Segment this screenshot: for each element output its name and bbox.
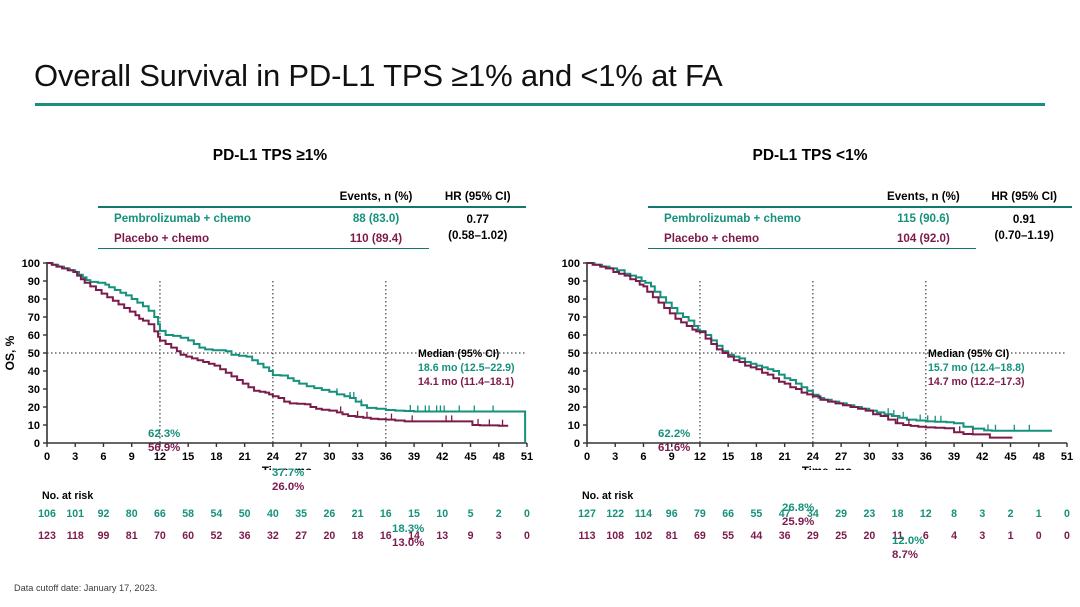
svg-text:10: 10 [568, 420, 580, 432]
svg-text:6: 6 [100, 451, 106, 463]
svg-text:0: 0 [584, 451, 590, 463]
summary-table: Events, n (%) HR (95% CI) Pembrolizumab … [648, 190, 1072, 249]
table-row: Pembrolizumab + chemo 88 (83.0) 0.77 (0.… [98, 207, 526, 228]
risk-value: 18 [352, 530, 364, 542]
panel-tps-ge-1: PD-L1 TPS ≥1% Events, n (%) HR (95% CI) … [0, 130, 540, 570]
svg-text:3: 3 [72, 451, 78, 463]
svg-text:45: 45 [464, 451, 476, 463]
risk-row-placebo: 12311899817060523632272018161413930 [0, 530, 540, 547]
median-header: Median (95% CI) [418, 348, 515, 362]
svg-text:10: 10 [28, 420, 40, 432]
risk-value: 54 [211, 508, 223, 520]
annotation-placebo: 13.0% [392, 537, 424, 551]
risk-value: 32 [267, 530, 279, 542]
risk-value: 1 [1036, 508, 1042, 520]
risk-value: 113 [578, 530, 595, 542]
risk-value: 12 [920, 508, 932, 520]
annotation-pembro: 18.3% [392, 523, 424, 537]
svg-text:90: 90 [568, 276, 580, 288]
panel-heading: PD-L1 TPS <1% [540, 147, 1080, 165]
risk-value: 52 [211, 530, 223, 542]
risk-row-pembro: 10610192806658545040352621161510520 [0, 508, 540, 525]
hr-value: 0.77 [429, 212, 526, 229]
risk-value: 4 [951, 530, 957, 542]
arm-name: Pembrolizumab + chemo [648, 207, 870, 228]
annotation-month-36: 12.0%8.7% [892, 535, 924, 562]
svg-text:100: 100 [562, 258, 580, 270]
risk-value: 15 [408, 508, 420, 520]
svg-text:60: 60 [568, 330, 580, 342]
svg-text:51: 51 [1061, 451, 1073, 463]
svg-text:21: 21 [779, 451, 791, 463]
annotation-month-24: 26.8%25.9% [782, 502, 814, 529]
risk-value: 127 [578, 508, 596, 520]
risk-value: 106 [38, 508, 56, 520]
svg-text:15: 15 [722, 451, 734, 463]
risk-value: 36 [239, 530, 251, 542]
risk-value: 9 [468, 530, 474, 542]
svg-text:80: 80 [568, 294, 580, 306]
risk-value: 2 [1008, 508, 1014, 520]
slide-root: Overall Survival in PD-L1 TPS ≥1% and <1… [0, 0, 1080, 607]
col-hr: HR (95% CI) [429, 190, 526, 207]
events-value: 104 (92.0) [870, 228, 976, 249]
page-title: Overall Survival in PD-L1 TPS ≥1% and <1… [34, 58, 1046, 94]
svg-text:36: 36 [920, 451, 932, 463]
svg-text:33: 33 [891, 451, 903, 463]
svg-text:100: 100 [22, 258, 40, 270]
events-value: 110 (89.4) [323, 228, 430, 249]
svg-text:30: 30 [863, 451, 875, 463]
svg-text:60: 60 [28, 330, 40, 342]
median-placebo: 14.7 mo (12.2–17.3) [928, 376, 1025, 390]
risk-value: 55 [722, 530, 734, 542]
events-value: 115 (90.6) [870, 207, 976, 228]
annotation-placebo: 8.7% [892, 549, 924, 563]
hr-value: 0.91 [976, 212, 1072, 229]
svg-text:OS, %: OS, % [3, 335, 17, 370]
risk-value: 96 [666, 508, 678, 520]
svg-text:6: 6 [640, 451, 646, 463]
svg-text:18: 18 [210, 451, 222, 463]
median-pembro: 15.7 mo (12.4–18.8) [928, 362, 1025, 376]
risk-row-placebo: 113108102816955443629252011643100 [540, 530, 1080, 547]
col-hr: HR (95% CI) [976, 190, 1072, 207]
svg-text:80: 80 [28, 294, 40, 306]
risk-value: 122 [606, 508, 624, 520]
risk-value: 23 [863, 508, 875, 520]
risk-value: 16 [380, 508, 392, 520]
hr-ci: (0.70–1.19) [976, 228, 1072, 245]
annotation-placebo: 61.6% [658, 442, 690, 456]
svg-text:21: 21 [239, 451, 251, 463]
risk-value: 123 [38, 530, 56, 542]
risk-value: 5 [468, 508, 474, 520]
svg-text:18: 18 [750, 451, 762, 463]
footnote: Data cutoff date: January 17, 2023. [14, 583, 157, 593]
risk-value: 13 [436, 530, 448, 542]
annotation-month-36: 18.3%13.0% [392, 523, 424, 550]
table-row: Pembrolizumab + chemo 115 (90.6) 0.91 (0… [648, 207, 1072, 228]
risk-value: 3 [979, 530, 985, 542]
svg-text:40: 40 [568, 366, 580, 378]
svg-text:42: 42 [436, 451, 448, 463]
risk-value: 27 [295, 530, 307, 542]
svg-text:42: 42 [976, 451, 988, 463]
risk-value: 35 [295, 508, 307, 520]
risk-value: 40 [267, 508, 279, 520]
risk-value: 101 [66, 508, 84, 520]
risk-table-label: No. at risk [42, 490, 93, 502]
arm-name: Placebo + chemo [648, 228, 870, 249]
risk-value: 58 [182, 508, 194, 520]
svg-text:20: 20 [568, 402, 580, 414]
hr-cell: 0.91 (0.70–1.19) [976, 207, 1072, 249]
col-events: Events, n (%) [323, 190, 430, 207]
risk-value: 60 [182, 530, 194, 542]
risk-value: 25 [835, 530, 847, 542]
risk-value: 36 [779, 530, 791, 542]
summary-table: Events, n (%) HR (95% CI) Pembrolizumab … [98, 190, 526, 249]
col-arm [98, 190, 323, 207]
panel-heading: PD-L1 TPS ≥1% [0, 147, 540, 165]
hr-ci: (0.58–1.02) [429, 228, 526, 245]
svg-text:50: 50 [568, 348, 580, 360]
svg-text:39: 39 [408, 451, 420, 463]
svg-text:24: 24 [267, 451, 280, 463]
svg-text:48: 48 [493, 451, 505, 463]
risk-value: 21 [352, 508, 364, 520]
annotation-pembro: 12.0% [892, 535, 924, 549]
arm-name: Placebo + chemo [98, 228, 323, 249]
svg-text:24: 24 [807, 451, 820, 463]
risk-table-label: No. at risk [582, 490, 633, 502]
risk-value: 81 [126, 530, 138, 542]
svg-text:36: 36 [380, 451, 392, 463]
hr-cell: 0.77 (0.58–1.02) [429, 207, 526, 249]
risk-value: 0 [524, 530, 530, 542]
risk-value: 2 [496, 508, 502, 520]
risk-value: 3 [979, 508, 985, 520]
annotation-month-12: 62.3%56.9% [148, 428, 180, 455]
arm-name: Pembrolizumab + chemo [98, 207, 323, 228]
title-underline [35, 103, 1045, 106]
risk-value: 20 [323, 530, 335, 542]
risk-value: 8 [951, 508, 957, 520]
risk-value: 16 [380, 530, 392, 542]
annotation-month-12: 62.2%61.6% [658, 428, 690, 455]
risk-value: 69 [694, 530, 706, 542]
annotation-placebo: 56.9% [148, 442, 180, 456]
svg-text:33: 33 [351, 451, 363, 463]
median-pembro: 18.6 mo (12.5–22.9) [418, 362, 515, 376]
annotation-pembro: 37.7% [272, 467, 304, 481]
risk-value: 118 [67, 530, 84, 542]
median-placebo: 14.1 mo (11.4–18.1) [418, 376, 515, 390]
svg-text:70: 70 [568, 312, 580, 324]
panel-tps-lt-1: PD-L1 TPS <1% Events, n (%) HR (95% CI) … [540, 130, 1080, 570]
risk-value: 3 [496, 530, 502, 542]
svg-text:27: 27 [835, 451, 847, 463]
risk-value: 20 [863, 530, 875, 542]
risk-value: 108 [606, 530, 624, 542]
risk-value: 66 [154, 508, 166, 520]
risk-value: 29 [835, 508, 847, 520]
risk-value: 10 [436, 508, 448, 520]
risk-value: 0 [1036, 530, 1042, 542]
annotation-month-24: 37.7%26.0% [272, 467, 304, 494]
svg-text:30: 30 [28, 384, 40, 396]
risk-value: 99 [98, 530, 110, 542]
svg-text:15: 15 [182, 451, 194, 463]
median-box: Median (95% CI) 15.7 mo (12.4–18.8) 14.7… [928, 348, 1025, 389]
annotation-pembro: 26.8% [782, 502, 814, 516]
svg-text:50: 50 [28, 348, 40, 360]
risk-value: 81 [666, 530, 678, 542]
svg-text:30: 30 [568, 384, 580, 396]
risk-value: 79 [694, 508, 706, 520]
annotation-placebo: 26.0% [272, 481, 304, 495]
risk-value: 102 [635, 530, 653, 542]
median-header: Median (95% CI) [928, 348, 1025, 362]
risk-value: 0 [524, 508, 530, 520]
svg-text:Time, mo: Time, mo [802, 466, 852, 470]
svg-text:20: 20 [28, 402, 40, 414]
risk-value: 70 [154, 530, 166, 542]
annotation-placebo: 25.9% [782, 516, 814, 530]
risk-value: 29 [807, 530, 819, 542]
risk-value: 92 [98, 508, 110, 520]
risk-value: 0 [1064, 508, 1070, 520]
median-box: Median (95% CI) 18.6 mo (12.5–22.9) 14.1… [418, 348, 515, 389]
svg-text:3: 3 [612, 451, 618, 463]
annotation-pembro: 62.2% [658, 428, 690, 442]
risk-value: 55 [751, 508, 763, 520]
risk-value: 50 [239, 508, 251, 520]
svg-text:9: 9 [129, 451, 135, 463]
risk-value: 1 [1008, 530, 1014, 542]
col-arm [648, 190, 870, 207]
svg-text:0: 0 [34, 438, 40, 450]
svg-text:30: 30 [323, 451, 335, 463]
risk-value: 18 [892, 508, 904, 520]
risk-value: 26 [323, 508, 335, 520]
svg-text:51: 51 [521, 451, 533, 463]
risk-value: 66 [722, 508, 734, 520]
risk-value: 0 [1064, 530, 1070, 542]
svg-text:0: 0 [574, 438, 580, 450]
risk-value: 80 [126, 508, 138, 520]
svg-text:12: 12 [694, 451, 706, 463]
risk-value: 114 [635, 508, 652, 520]
svg-text:27: 27 [295, 451, 307, 463]
events-value: 88 (83.0) [323, 207, 430, 228]
risk-value: 44 [751, 530, 763, 542]
col-events: Events, n (%) [870, 190, 976, 207]
svg-text:45: 45 [1004, 451, 1016, 463]
svg-text:0: 0 [44, 451, 50, 463]
svg-text:39: 39 [948, 451, 960, 463]
svg-text:70: 70 [28, 312, 40, 324]
svg-text:40: 40 [28, 366, 40, 378]
svg-text:90: 90 [28, 276, 40, 288]
annotation-pembro: 62.3% [148, 428, 180, 442]
svg-text:48: 48 [1033, 451, 1045, 463]
